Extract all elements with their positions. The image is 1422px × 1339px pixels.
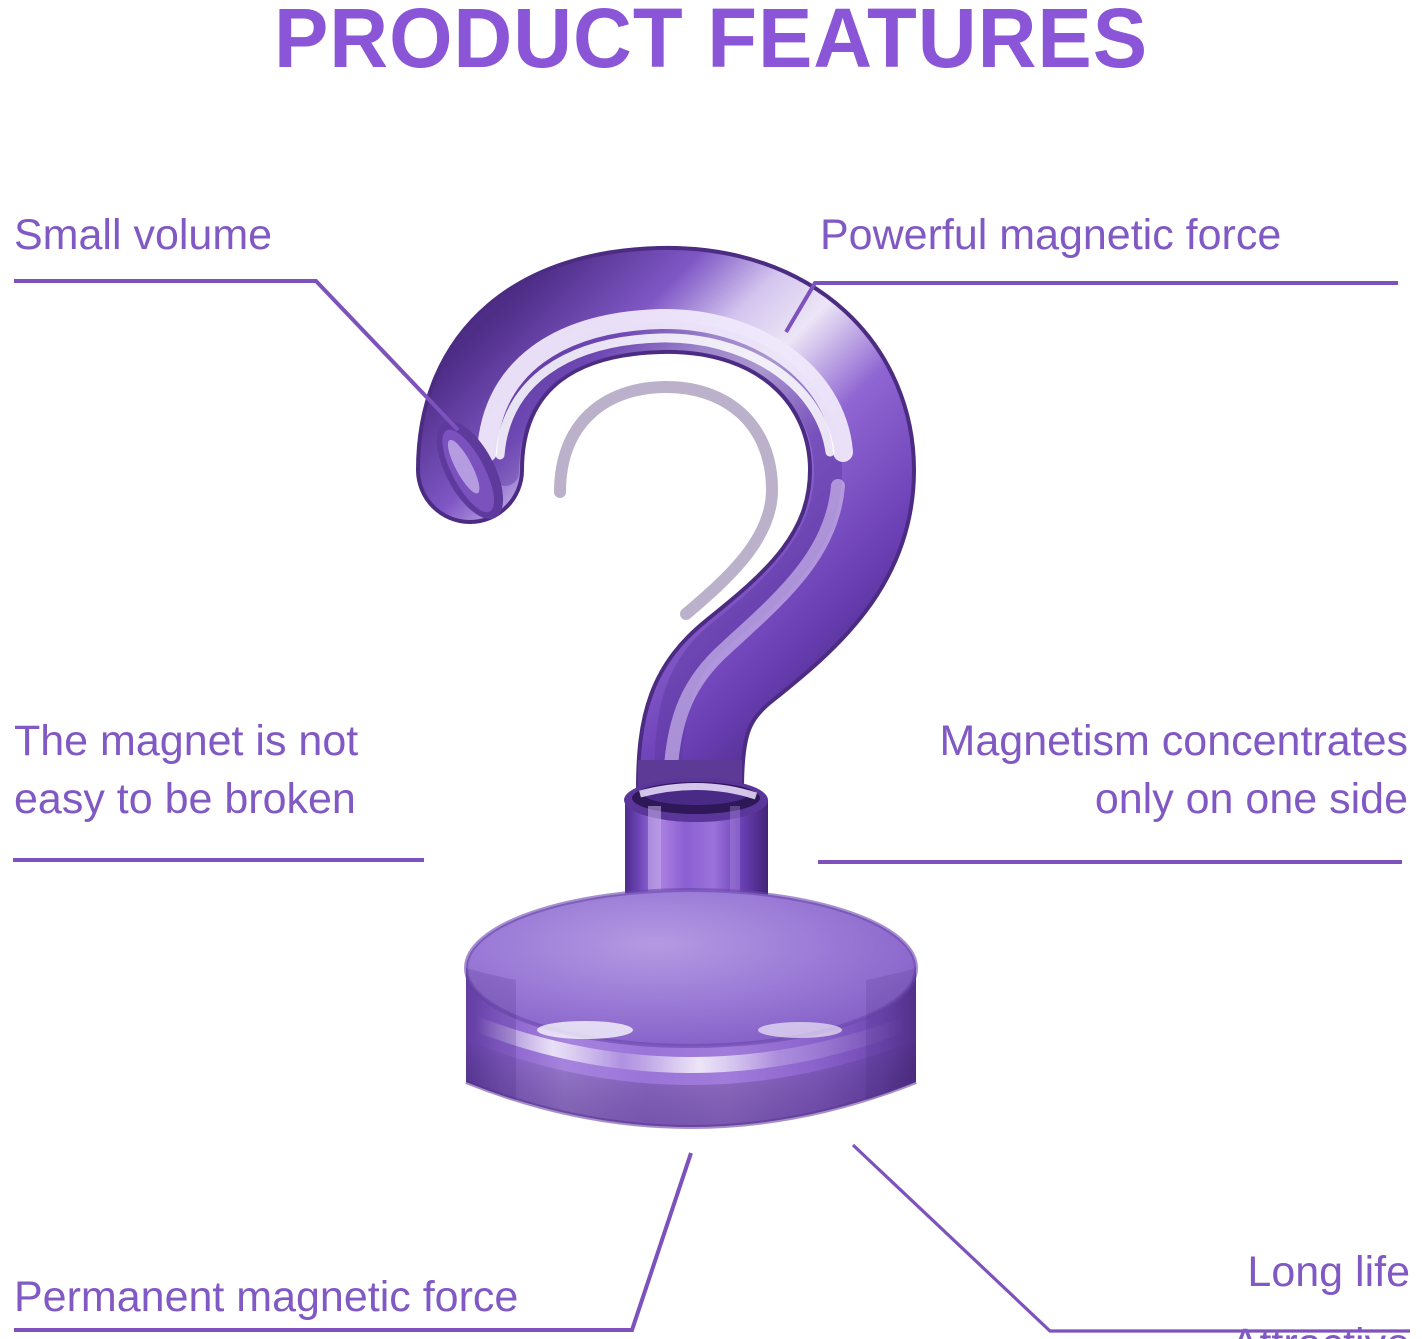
callout-powerful-magnetic-force: Powerful magnetic force [820,206,1408,264]
product-features-infographic: PRODUCT FEATURES [0,0,1422,1339]
callout-magnet-not-easy-broken: The magnet is not easy to be broken [14,712,534,828]
callout-magnetism-one-side: Magnetism concentrates only on one side [760,712,1408,828]
callout-long-life-attractive: Long life Attractive [980,1185,1410,1339]
magnetic-hook-illustration [0,0,1422,1339]
callout-long-life-line2: Attractive [980,1315,1410,1339]
callout-long-life-line1: Long life [1247,1248,1410,1296]
callout-small-volume: Small volume [14,206,534,264]
callout-permanent-magnetic-force: Permanent magnetic force [14,1268,654,1326]
magnet-disc-part [466,890,916,1127]
